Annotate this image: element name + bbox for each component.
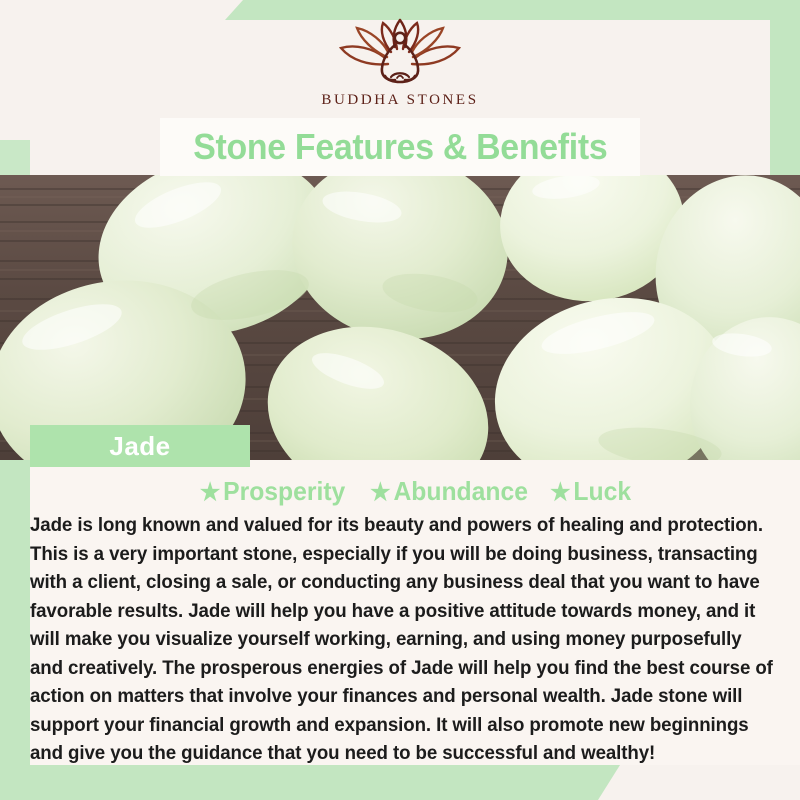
benefit-item: ★Abundance: [370, 476, 528, 507]
stone-name: Jade: [109, 431, 170, 462]
benefit-label: Luck: [574, 476, 632, 506]
jade-stones-photo: [0, 175, 800, 460]
benefits-list: ★Prosperity ★Abundance ★Luck: [30, 460, 800, 507]
benefit-item: ★Prosperity: [200, 476, 345, 507]
benefit-label: Prosperity: [223, 476, 345, 506]
poster-canvas: BUDDHA STONES Stone Features & Benefits: [0, 0, 800, 800]
star-icon: ★: [551, 479, 571, 506]
benefit-item: ★Luck: [551, 476, 632, 507]
content-panel: ★Prosperity ★Abundance ★Luck Jade is lon…: [30, 460, 800, 765]
star-icon: ★: [200, 479, 220, 506]
benefit-label: Abundance: [393, 476, 527, 506]
star-icon: ★: [370, 479, 390, 506]
brand-name: BUDDHA STONES: [0, 92, 800, 109]
stone-description: Jade is long known and valued for its be…: [30, 512, 777, 769]
stone-name-badge: Jade: [30, 425, 250, 467]
decorative-frame-bottom: [0, 765, 620, 800]
brand-logo: BUDDHA STONES: [0, 18, 800, 109]
page-title: Stone Features & Benefits: [193, 126, 607, 168]
lotus-meditation-icon: [0, 18, 800, 90]
title-banner: Stone Features & Benefits: [160, 118, 640, 176]
decorative-frame-left-lower: [0, 455, 30, 780]
decorative-frame-top: [225, 0, 800, 20]
